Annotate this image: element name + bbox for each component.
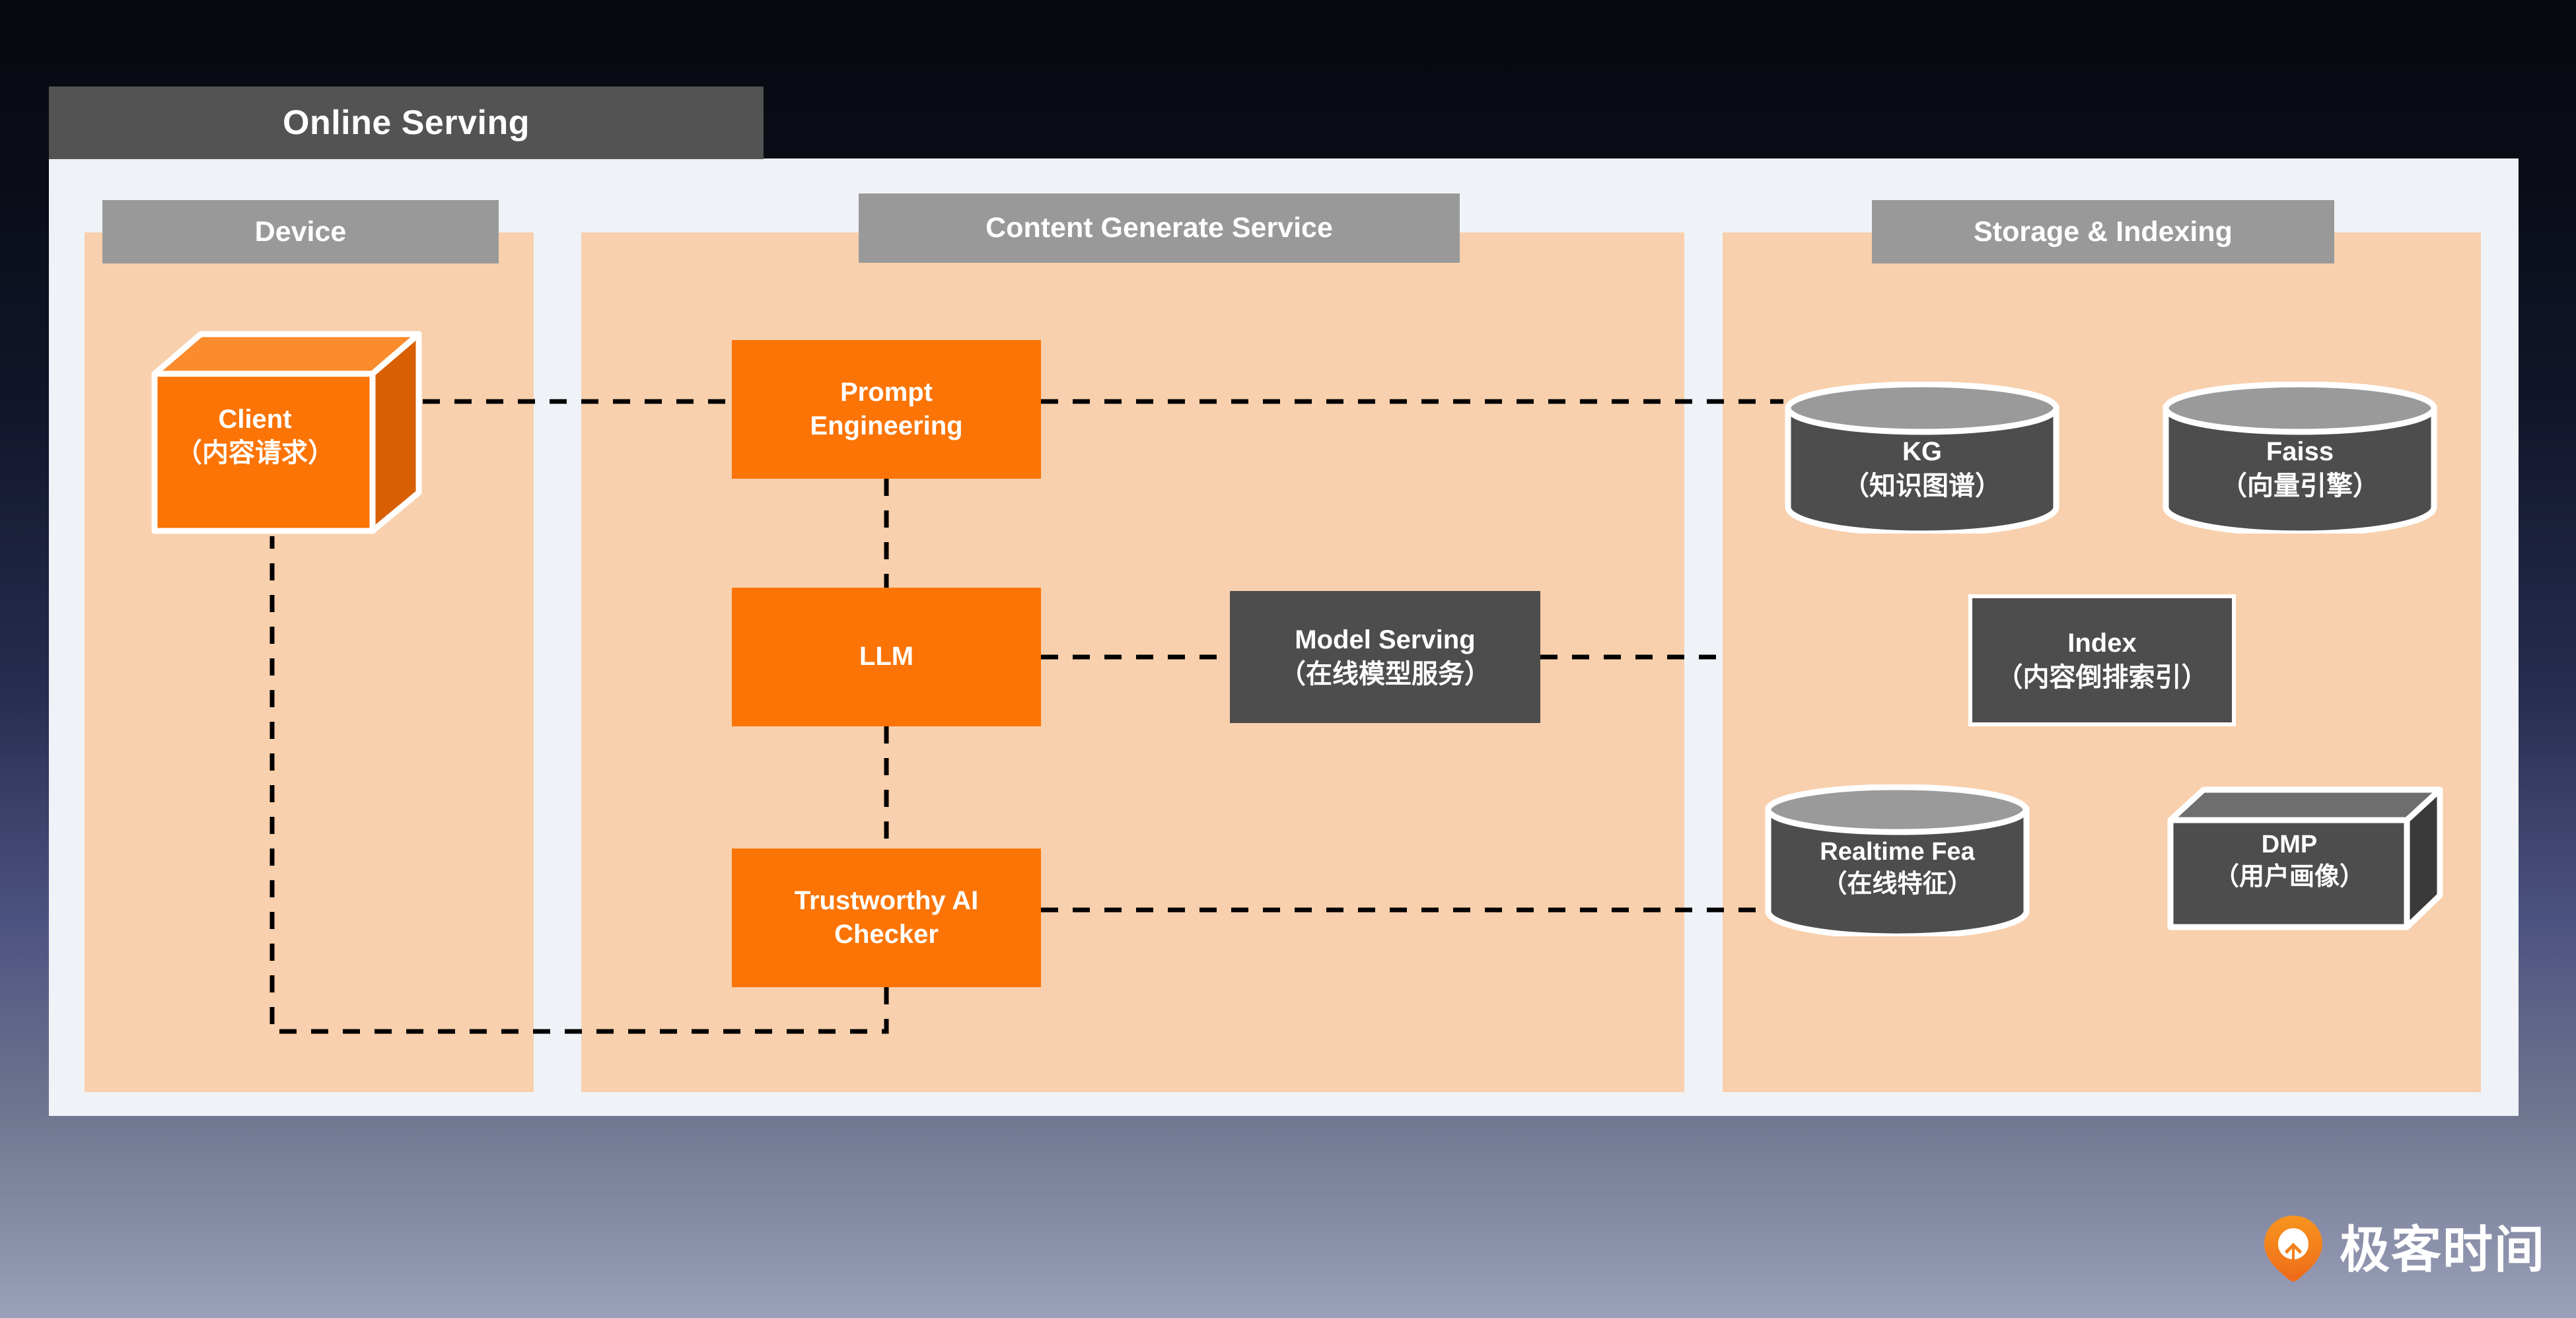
node-client[interactable]: Client （内容请求） xyxy=(151,330,423,535)
node-faiss[interactable]: Faiss （向量引擎） xyxy=(2161,382,2439,534)
node-prompt-engineering-line1: Prompt xyxy=(840,376,933,409)
column-header-device: Device xyxy=(102,200,499,263)
node-model-serving-subtitle: （在线模型服务） xyxy=(1279,657,1491,691)
diagram-canvas: Online Serving Device Content G xyxy=(0,0,2576,1318)
node-model-serving[interactable]: Model Serving （在线模型服务） xyxy=(1230,591,1540,723)
node-prompt-engineering-line2: Engineering xyxy=(810,409,962,443)
node-index[interactable]: Index （内容倒排索引） xyxy=(1968,594,2236,726)
column-header-device-label: Device xyxy=(255,216,347,248)
brand-name: 极客时间 xyxy=(2340,1226,2546,1276)
node-dmp[interactable]: DMP （用户画像） xyxy=(2166,786,2444,931)
node-model-serving-title: Model Serving xyxy=(1295,623,1475,657)
node-llm-line1: LLM xyxy=(859,640,913,674)
node-llm[interactable]: LLM xyxy=(732,588,1041,726)
node-trustworthy-ai-checker-line1: Trustworthy AI xyxy=(795,884,979,918)
column-header-content-label: Content Generate Service xyxy=(985,212,1333,244)
node-realtime-fea[interactable]: Realtime Fea （在线特征） xyxy=(1764,784,2031,936)
column-header-storage-label: Storage & Indexing xyxy=(1974,216,2233,248)
diagram-title-bar: Online Serving xyxy=(49,87,764,159)
node-prompt-engineering[interactable]: Prompt Engineering xyxy=(732,340,1041,479)
node-trustworthy-ai-checker-line2: Checker xyxy=(834,918,939,952)
brand-watermark: 极客时间 xyxy=(2263,1214,2546,1286)
node-index-title: Index xyxy=(2067,626,2136,660)
page-title: Online Serving xyxy=(283,103,530,143)
node-kg[interactable]: KG （知识图谱） xyxy=(1783,382,2061,534)
node-trustworthy-ai-checker[interactable]: Trustworthy AI Checker xyxy=(732,849,1041,987)
column-header-storage: Storage & Indexing xyxy=(1872,200,2334,263)
node-index-subtitle: （内容倒排索引） xyxy=(1997,660,2208,695)
geektime-logo-icon xyxy=(2263,1214,2324,1286)
column-header-content: Content Generate Service xyxy=(859,193,1460,263)
